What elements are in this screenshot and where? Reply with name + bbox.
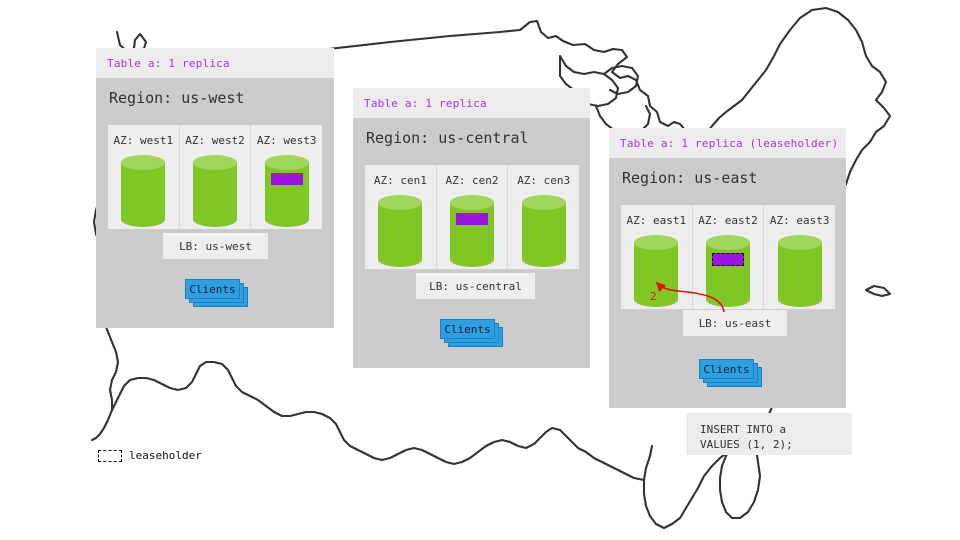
az-cell-east1[interactable]: AZ: east1 <box>621 205 693 309</box>
region-title-us-west: Region: us-west <box>96 78 334 107</box>
cylinder-top <box>265 155 309 170</box>
az-cell-cen3[interactable]: AZ: cen3 <box>508 165 579 269</box>
load-balancer-us-central[interactable]: LB: us-central <box>416 273 535 299</box>
az-label-cen1: AZ: cen1 <box>374 174 427 187</box>
az-cell-east2[interactable]: AZ: east2 <box>693 205 765 309</box>
cylinder-body <box>450 202 494 260</box>
cylinder-body <box>193 162 237 220</box>
cylinder-top <box>706 235 750 250</box>
node-cylinder-cen2[interactable] <box>450 195 494 267</box>
az-cell-west1[interactable]: AZ: west1 <box>108 125 180 229</box>
clients-label-us-central[interactable]: Clients <box>440 319 495 339</box>
node-cylinder-west3[interactable] <box>265 155 309 227</box>
az-label-east2: AZ: east2 <box>698 214 758 227</box>
clients-us-east[interactable]: Clients <box>699 359 762 387</box>
region-title-us-east: Region: us-east <box>609 158 846 187</box>
cylinder-top <box>522 195 566 210</box>
cylinder-body <box>706 242 750 300</box>
diagram-canvas: Table a: 1 replica Region: us-west AZ: w… <box>0 0 960 540</box>
load-balancer-us-east[interactable]: LB: us-east <box>683 310 787 336</box>
clients-us-central[interactable]: Clients <box>440 319 503 347</box>
region-panel-us-west: Table a: 1 replica Region: us-west AZ: w… <box>96 48 334 328</box>
legend: leaseholder <box>98 449 202 462</box>
replica-marker-east2-leaseholder[interactable] <box>712 253 744 266</box>
region-panel-us-east: Table a: 1 replica (leaseholder) Region:… <box>609 128 846 408</box>
region-header-us-west: Table a: 1 replica <box>96 48 334 78</box>
clients-label-us-west[interactable]: Clients <box>185 279 240 299</box>
az-label-east3: AZ: east3 <box>770 214 830 227</box>
step-2-arrow-label: 2 <box>650 290 657 303</box>
region-panel-us-central: Table a: 1 replica Region: us-central AZ… <box>353 88 590 368</box>
az-label-west2: AZ: west2 <box>185 134 245 147</box>
cylinder-body <box>378 202 422 260</box>
region-header-us-central: Table a: 1 replica <box>353 88 590 118</box>
az-label-west3: AZ: west3 <box>257 134 317 147</box>
cylinder-body <box>121 162 165 220</box>
cylinder-body <box>778 242 822 300</box>
cylinder-body <box>265 162 309 220</box>
node-cylinder-cen1[interactable] <box>378 195 422 267</box>
az-cell-west3[interactable]: AZ: west3 <box>251 125 322 229</box>
cylinder-top <box>778 235 822 250</box>
az-strip-us-central: AZ: cen1 AZ: cen2 AZ: cen3 <box>365 165 579 269</box>
load-balancer-us-west[interactable]: LB: us-west <box>163 233 268 259</box>
region-header-us-east: Table a: 1 replica (leaseholder) <box>609 128 846 158</box>
region-title-us-central: Region: us-central <box>353 118 590 147</box>
node-cylinder-east2[interactable] <box>706 235 750 307</box>
az-label-cen2: AZ: cen2 <box>446 174 499 187</box>
node-cylinder-west1[interactable] <box>121 155 165 227</box>
leaseholder-swatch-icon <box>98 450 122 462</box>
az-label-east1: AZ: east1 <box>627 214 687 227</box>
node-cylinder-cen3[interactable] <box>522 195 566 267</box>
az-cell-cen2[interactable]: AZ: cen2 <box>437 165 509 269</box>
az-cell-cen1[interactable]: AZ: cen1 <box>365 165 437 269</box>
cylinder-body <box>522 202 566 260</box>
az-cell-west2[interactable]: AZ: west2 <box>180 125 252 229</box>
az-label-cen3: AZ: cen3 <box>517 174 570 187</box>
cylinder-top <box>450 195 494 210</box>
az-label-west1: AZ: west1 <box>114 134 174 147</box>
az-strip-us-west: AZ: west1 AZ: west2 AZ: west3 <box>108 125 322 229</box>
cylinder-top <box>193 155 237 170</box>
replica-marker-west3[interactable] <box>271 173 303 185</box>
node-cylinder-west2[interactable] <box>193 155 237 227</box>
clients-us-west[interactable]: Clients <box>185 279 248 307</box>
sql-statement-box: INSERT INTO a VALUES (1, 2); <box>686 413 852 455</box>
clients-label-us-east[interactable]: Clients <box>699 359 754 379</box>
replica-marker-cen2[interactable] <box>456 213 488 225</box>
node-cylinder-east3[interactable] <box>778 235 822 307</box>
legend-label-leaseholder: leaseholder <box>129 449 202 462</box>
az-cell-east3[interactable]: AZ: east3 <box>764 205 835 309</box>
